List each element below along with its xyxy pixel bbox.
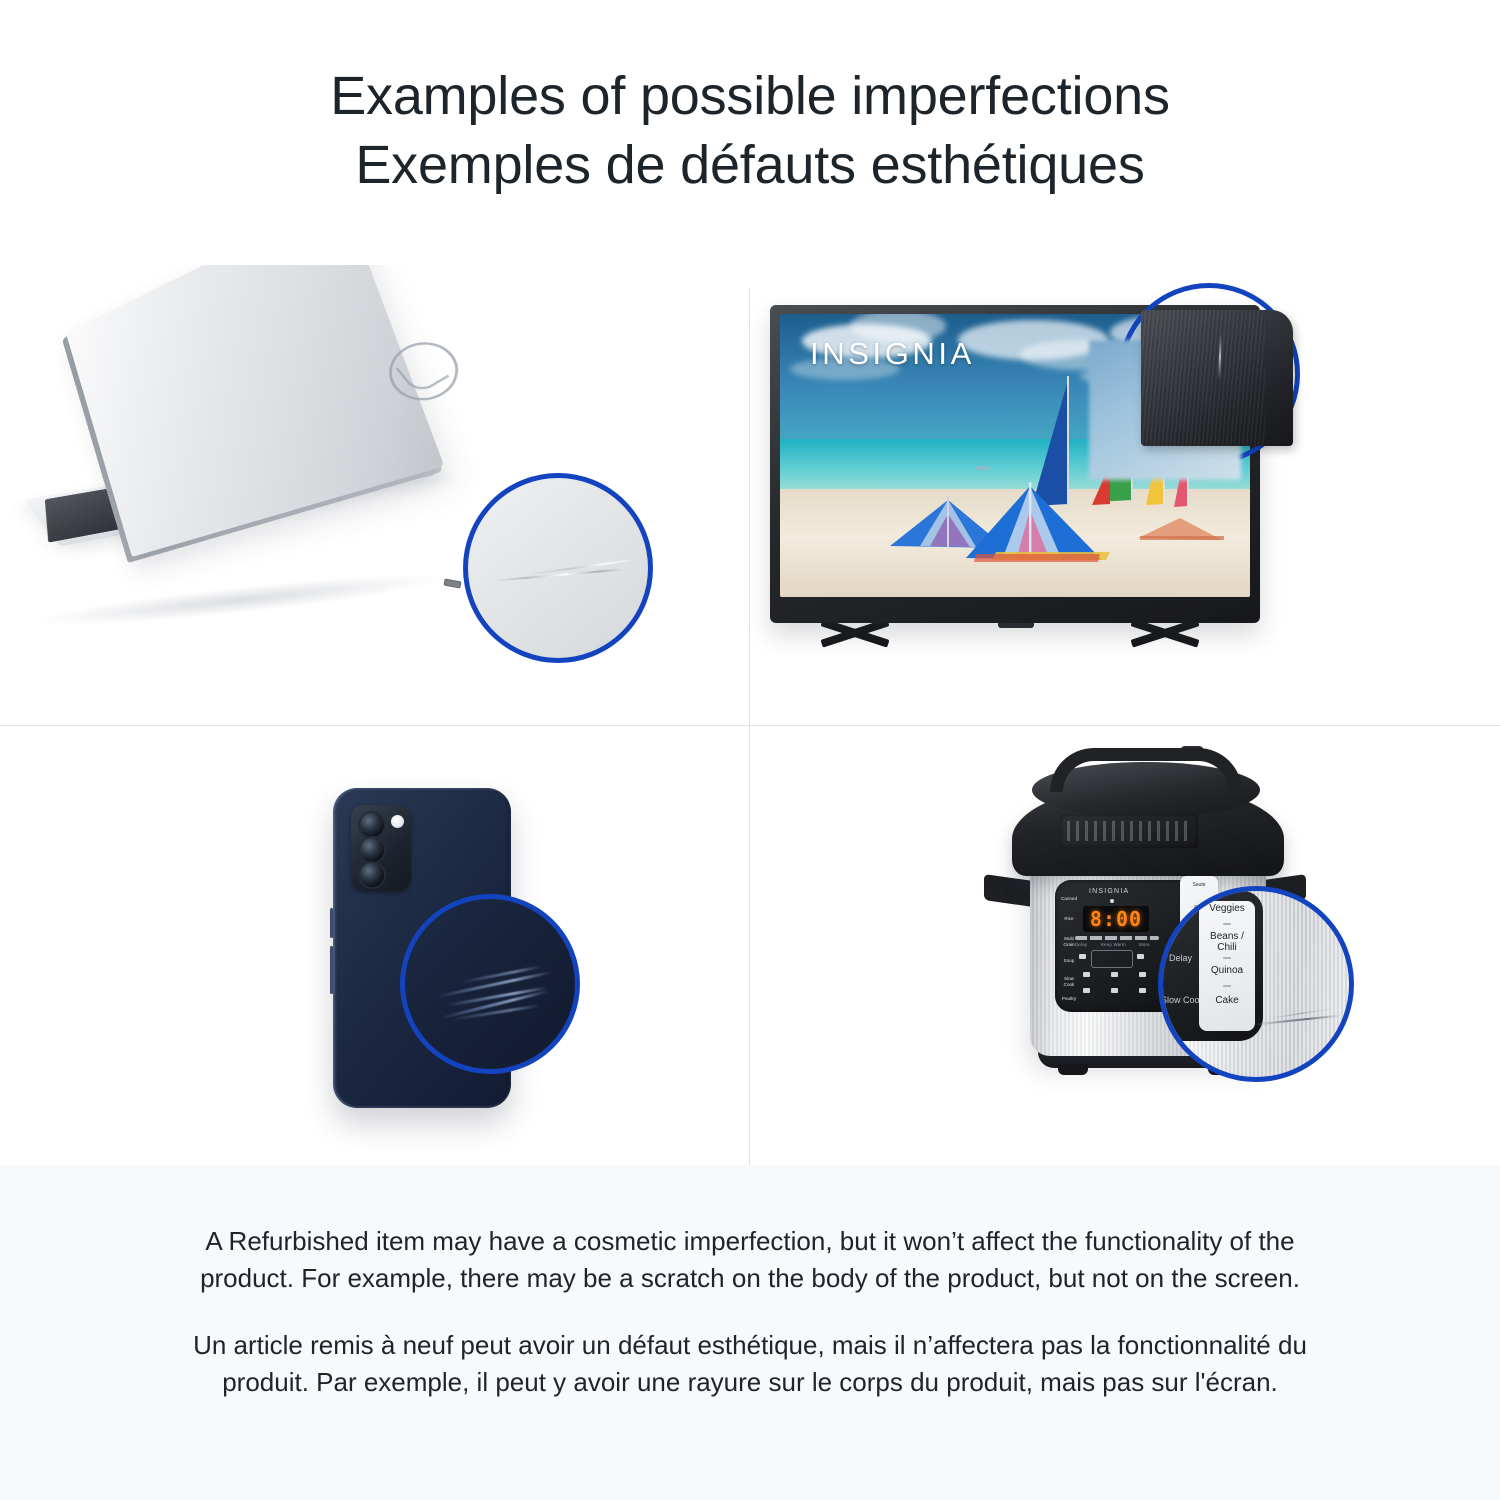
camera-flash-icon bbox=[391, 815, 404, 828]
cooker-delay-button[interactable] bbox=[1139, 972, 1146, 977]
cooker-foot bbox=[1058, 1064, 1088, 1075]
tv-brand-logo: INSIGNIA bbox=[810, 336, 975, 372]
cooker-saute-button[interactable] bbox=[1139, 988, 1146, 993]
cooker-label-more: More bbox=[1139, 942, 1150, 947]
cooker-pressure-button[interactable] bbox=[1083, 988, 1090, 993]
page-title-fr: Exemples de défauts esthétiques bbox=[355, 131, 1144, 200]
laptop-shadow bbox=[30, 565, 450, 635]
dell-logo-icon bbox=[377, 331, 473, 412]
cooker-minus-button[interactable] bbox=[1079, 954, 1086, 959]
phone-volume-button bbox=[330, 908, 333, 938]
cooker-slowcook-button[interactable] bbox=[1111, 988, 1118, 993]
tv-illustration: INSIGNIA bbox=[750, 265, 1500, 725]
cooker-indicator-led bbox=[1110, 899, 1114, 903]
camera-lens-icon bbox=[360, 838, 384, 862]
cooker-program-poultry[interactable]: Poultry bbox=[1059, 996, 1079, 1002]
cooker-program-column-left[interactable]: Canned Rice Multi Grain Soup Slow Cook P… bbox=[1059, 896, 1079, 1006]
page-title-en: Examples of possible imperfections bbox=[330, 62, 1170, 131]
cooker-program-slowcook[interactable]: Slow Cook bbox=[1059, 976, 1079, 987]
cooker-carry-handle bbox=[1050, 748, 1242, 792]
refurbished-imperfections-infographic: Examples of possible imperfections Exemp… bbox=[0, 0, 1500, 1500]
cooker-zoom-label-quinoa: Quinoa bbox=[1199, 965, 1255, 976]
examples-grid: INSIGNIA bbox=[0, 265, 1500, 1165]
magnifier-laptop-scratch bbox=[463, 473, 653, 663]
example-cell-phone bbox=[0, 726, 749, 1165]
cooker-lcd-value: 8:00 bbox=[1090, 907, 1142, 931]
cooker-program-soup[interactable]: Soup bbox=[1059, 958, 1079, 964]
magnifier-phone-scratches bbox=[400, 894, 580, 1074]
page-title: Examples of possible imperfections Exemp… bbox=[0, 0, 1500, 265]
tv-bezel-scratch-mark bbox=[1218, 334, 1222, 380]
phone-illustration bbox=[0, 726, 749, 1165]
laptop-illustration bbox=[0, 265, 749, 725]
cooker-zoom-label-cake: Cake bbox=[1199, 995, 1255, 1006]
cooker-program-multigrain[interactable]: Multi Grain bbox=[1059, 936, 1079, 947]
example-cell-laptop bbox=[0, 265, 749, 725]
example-cell-tv: INSIGNIA bbox=[750, 265, 1500, 725]
cooker-program-canned[interactable]: Canned bbox=[1059, 896, 1079, 902]
tv-corner-bezel-zoom bbox=[1141, 310, 1293, 446]
phone-camera-module bbox=[351, 805, 411, 891]
cooker-lcd-display: 8:00 bbox=[1083, 906, 1149, 932]
cooker-brand-logo: INSIGNIA bbox=[1089, 888, 1129, 895]
cooker-zoom-label-slowcook: Slow Cook bbox=[1161, 995, 1204, 1005]
footer-description: A Refurbished item may have a cosmetic i… bbox=[0, 1165, 1500, 1500]
cooker-manual-button[interactable] bbox=[1083, 972, 1090, 977]
magnifier-tv-bezel-scuff bbox=[1118, 283, 1300, 465]
laptop-lid bbox=[66, 265, 444, 557]
cooker-progress-bar bbox=[1075, 936, 1159, 940]
pressure-cooker-illustration: INSIGNIA 8:00 Delay Keep Warm More bbox=[750, 726, 1500, 1165]
magnifier-cooker-scratch: Delay Slow Cook Veggies Beans / Chili Qu… bbox=[1158, 886, 1354, 1082]
camera-lens-icon bbox=[360, 863, 384, 887]
footer-paragraph-en: A Refurbished item may have a cosmetic i… bbox=[175, 1223, 1325, 1297]
example-cell-pressure-cooker: INSIGNIA 8:00 Delay Keep Warm More bbox=[750, 726, 1500, 1165]
camera-lens-icon bbox=[360, 813, 384, 837]
cooker-lid-vent-panel bbox=[1060, 814, 1198, 848]
cooker-zoom-button-strip: Veggies Beans / Chili Quinoa Cake bbox=[1199, 901, 1255, 1031]
cooker-program-rice[interactable]: Rice bbox=[1059, 916, 1079, 922]
cooker-zoom-label-veggies: Veggies bbox=[1199, 903, 1255, 914]
cooker-plus-button[interactable] bbox=[1137, 954, 1144, 959]
cooker-program-saute[interactable]: Saute bbox=[1180, 882, 1218, 888]
cooker-keypad[interactable] bbox=[1079, 948, 1155, 976]
cooker-zoom-label-delay: Delay bbox=[1169, 953, 1192, 963]
cooker-keypad-frame bbox=[1091, 950, 1133, 968]
footer-paragraph-fr: Un article remis à neuf peut avoir un dé… bbox=[175, 1327, 1325, 1401]
cooker-label-keepwarm: Keep Warm bbox=[1101, 942, 1126, 947]
cooker-keepwarm-button[interactable] bbox=[1111, 972, 1118, 977]
phone-power-button bbox=[330, 946, 333, 994]
cooker-zoom-label-beanschili: Beans / Chili bbox=[1199, 931, 1255, 953]
